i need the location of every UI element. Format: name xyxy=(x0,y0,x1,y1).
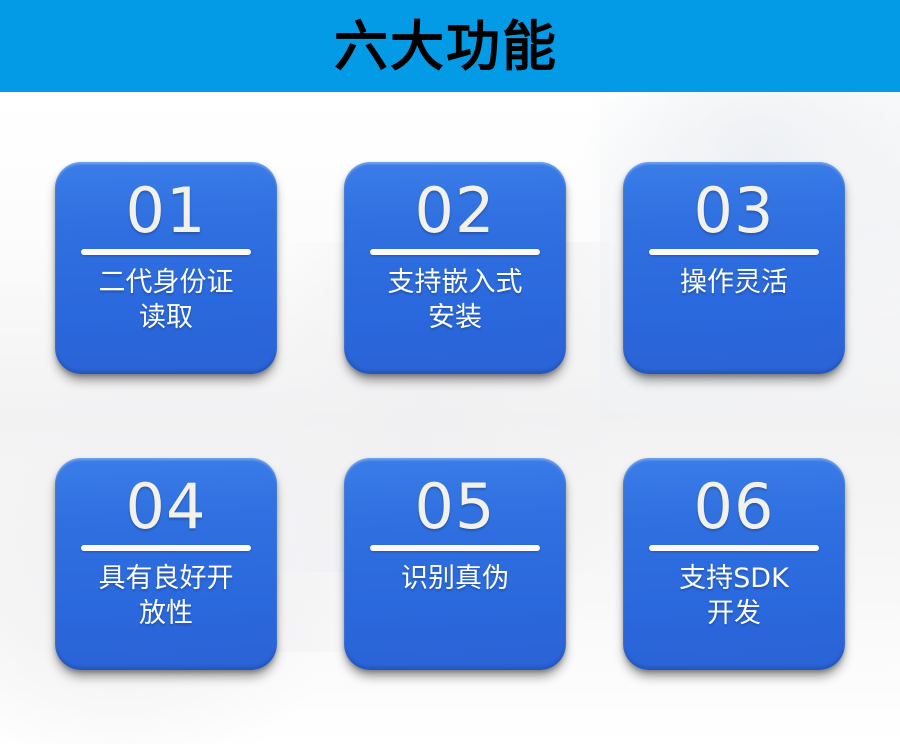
feature-card-02[interactable]: 02 支持嵌入式 安装 xyxy=(344,162,566,374)
feature-number: 03 xyxy=(694,178,775,243)
divider-line xyxy=(370,249,540,255)
divider-line xyxy=(81,545,251,551)
feature-card-06[interactable]: 06 支持SDK 开发 xyxy=(623,458,845,670)
feature-number: 06 xyxy=(694,474,775,539)
divider-line xyxy=(81,249,251,255)
feature-card-05[interactable]: 05 识别真伪 xyxy=(344,458,566,670)
feature-card-grid: 01 二代身份证 读取 02 支持嵌入式 安装 03 操作灵活 04 具有良好开… xyxy=(0,92,900,744)
feature-number: 01 xyxy=(126,178,207,243)
feature-card-04[interactable]: 04 具有良好开 放性 xyxy=(55,458,277,670)
page-title: 六大功能 xyxy=(334,20,558,74)
divider-line xyxy=(649,249,819,255)
feature-label: 操作灵活 xyxy=(636,265,832,300)
feature-label: 支持SDK 开发 xyxy=(636,561,832,631)
page-header-banner: 六大功能 xyxy=(0,0,900,92)
feature-label: 二代身份证 读取 xyxy=(68,265,264,335)
feature-number: 04 xyxy=(126,474,207,539)
feature-label: 具有良好开 放性 xyxy=(68,561,264,631)
feature-card-03[interactable]: 03 操作灵活 xyxy=(623,162,845,374)
feature-overview-page: 六大功能 01 二代身份证 读取 02 支持嵌入式 安装 03 操作灵活 04 … xyxy=(0,0,900,744)
divider-line xyxy=(370,545,540,551)
feature-label: 识别真伪 xyxy=(357,561,553,596)
feature-number: 05 xyxy=(415,474,496,539)
feature-label: 支持嵌入式 安装 xyxy=(357,265,553,335)
feature-number: 02 xyxy=(415,178,496,243)
feature-card-01[interactable]: 01 二代身份证 读取 xyxy=(55,162,277,374)
divider-line xyxy=(649,545,819,551)
